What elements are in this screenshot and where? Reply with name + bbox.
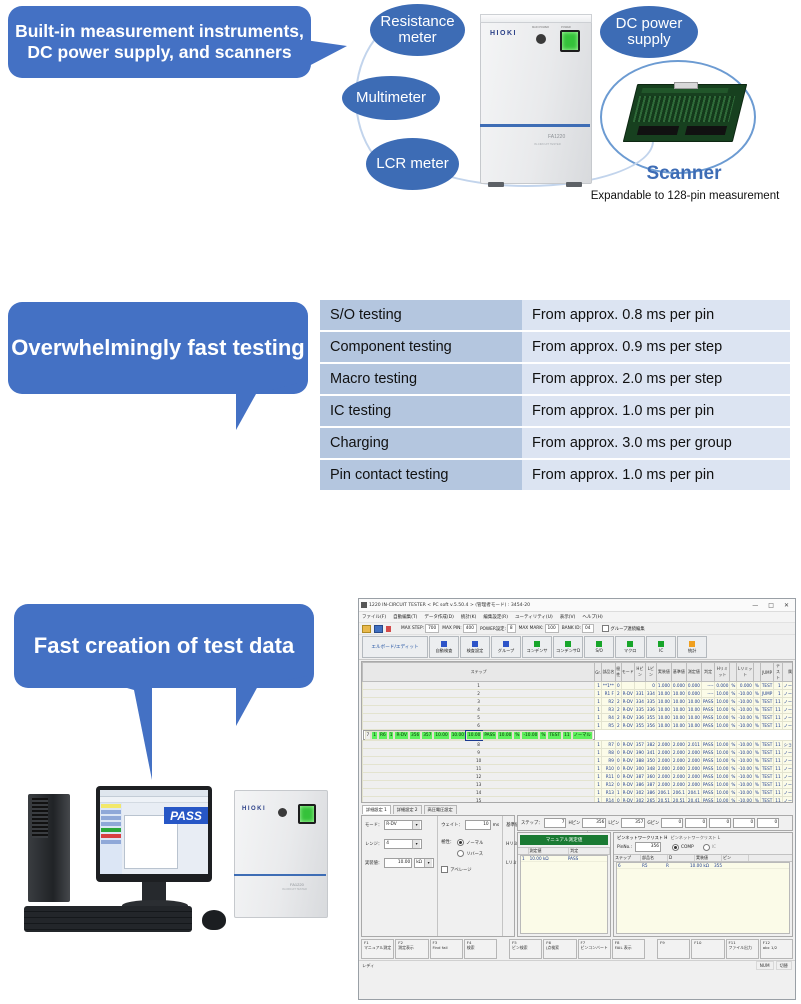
grid-cell[interactable]: 0 — [645, 682, 656, 690]
grid-row[interactable]: 81R70R-DV3573822.0002.0002.011PASS10.00%… — [363, 741, 794, 749]
grid-cell[interactable]: 10.00 — [715, 765, 730, 773]
grid-cell[interactable]: -10.00 — [737, 706, 754, 714]
grid-cell[interactable]: % — [753, 749, 760, 757]
grid-cell[interactable]: 1 — [774, 690, 782, 698]
close-button[interactable]: ✕ — [784, 602, 789, 609]
menu-item[interactable]: データ作成(D) — [424, 614, 453, 620]
grid-cell[interactable]: 10.00 — [715, 781, 730, 789]
grid-cell[interactable]: PASS — [701, 722, 714, 730]
toolbar-button[interactable]: マクロ — [615, 636, 645, 658]
grid-cell[interactable]: % — [753, 765, 760, 773]
grid-cell[interactable]: 2.000 — [671, 757, 686, 765]
grid-cell[interactable]: 10 — [363, 757, 595, 765]
grid-cell[interactable]: % — [730, 765, 737, 773]
grid-cell[interactable]: % — [730, 682, 737, 690]
grid-cell[interactable]: 341 — [645, 749, 656, 757]
grid-row[interactable]: 11**1**001.0000.0000.000----0.000%0.000%… — [363, 682, 794, 690]
grid-cell[interactable]: 1 — [595, 749, 602, 757]
grid-cell[interactable]: 348 — [645, 765, 656, 773]
grid-cell[interactable]: 1 — [774, 682, 782, 690]
function-key-bar[interactable]: F1マニュアル測定F2測定表示F3Find failF4検索F5ピン検索F6J点… — [359, 938, 795, 960]
grid-cell[interactable]: 1 — [595, 698, 602, 706]
grid-cell[interactable]: 11 — [774, 789, 782, 797]
function-key[interactable]: F9 — [657, 939, 690, 959]
grid-cell[interactable]: 10.00 — [656, 690, 671, 698]
grid-cell[interactable]: 0.000 — [686, 682, 701, 690]
grid-cell[interactable]: R-DV — [621, 781, 634, 789]
detail-tab[interactable]: 高圧電圧設定 — [424, 805, 457, 814]
grid-cell[interactable]: 10.00 — [466, 731, 482, 740]
grid-column-header[interactable]: 部品名 — [601, 663, 615, 682]
grid-cell[interactable]: TEST — [760, 682, 773, 690]
grid-cell[interactable]: -10.00 — [737, 714, 754, 722]
grid-cell[interactable]: % — [753, 781, 760, 789]
detail-tabs[interactable]: 詳細設定 1詳細設定 2高圧電圧設定 — [359, 804, 795, 814]
grid-cell[interactable]: 10.00 — [715, 690, 730, 698]
hpin-value[interactable]: 356 — [582, 818, 606, 828]
grid-cell[interactable]: 6 — [363, 722, 595, 730]
menu-item[interactable]: ヘルプ(H) — [582, 614, 602, 620]
toolbar-field-value[interactable]: 700 — [425, 624, 439, 633]
grid-cell[interactable]: 10.00 — [715, 749, 730, 757]
toolbar-field-value[interactable]: 8 — [507, 624, 516, 633]
grid-cell[interactable]: 336 — [634, 714, 645, 722]
grid-cell[interactable]: PASS — [701, 706, 714, 714]
grid-cell[interactable]: TEST — [760, 722, 773, 730]
grid-cell[interactable]: R8 — [601, 749, 615, 757]
grid-cell[interactable]: PASS — [701, 773, 714, 781]
grid-row[interactable]: 101R90R-DV3883502.0002.0002.000PASS10.00… — [363, 757, 794, 765]
grid-column-header[interactable]: Hリミット — [715, 663, 730, 682]
grid-cell[interactable]: -10.00 — [737, 797, 754, 804]
function-key[interactable]: F2測定表示 — [395, 939, 428, 959]
grid-cell[interactable]: R10 — [601, 765, 615, 773]
grid-cell[interactable]: 386 — [645, 789, 656, 797]
grid-cell[interactable]: 2.000 — [656, 757, 671, 765]
grid-row[interactable]: 21R1 F2R-DV33133410.0010.000.000----10.0… — [363, 690, 794, 698]
radio-ic[interactable]: IC — [703, 844, 716, 851]
grid-cell[interactable]: 356 — [409, 731, 421, 740]
grid-cell[interactable]: 1 — [595, 773, 602, 781]
grid-cell[interactable]: 2.000 — [656, 765, 671, 773]
grid-cell[interactable]: % — [730, 706, 737, 714]
toolbar-button[interactable]: 検査設定 — [460, 636, 490, 658]
grid-cell[interactable]: 7 — [365, 731, 372, 740]
grid-cell[interactable]: % — [730, 757, 737, 765]
grid-cell[interactable]: PASS — [701, 714, 714, 722]
grid-column-header[interactable]: Lピン — [645, 663, 656, 682]
grid-cell[interactable]: 1 — [595, 706, 602, 714]
function-key[interactable]: F5ピン検索 — [509, 939, 542, 959]
grid-cell[interactable]: % — [753, 690, 760, 698]
grid-cell[interactable]: TEST — [760, 781, 773, 789]
grid-cell[interactable]: TEST — [547, 731, 562, 740]
grid-row[interactable]: 141R131R-DV302386206.1206.1204.1PASS10.0… — [363, 789, 794, 797]
grid-column-header[interactable]: Lリミット — [737, 663, 754, 682]
grid-cell[interactable]: 11 — [774, 773, 782, 781]
grid-cell[interactable]: 355 — [634, 722, 645, 730]
grid-column-header[interactable]: 判定 — [701, 663, 714, 682]
grid-cell[interactable]: -10.00 — [737, 757, 754, 765]
grid-row[interactable]: 31R22R-DV33433510.0010.0010.00PASS10.00%… — [363, 698, 794, 706]
grid-cell[interactable]: 10.00 — [715, 714, 730, 722]
grid-cell[interactable]: 2.000 — [671, 781, 686, 789]
grid-cell[interactable]: 4 — [363, 706, 595, 714]
grid-column-header[interactable]: Hピン — [634, 663, 645, 682]
grid-cell[interactable]: 382 — [645, 741, 656, 749]
radio-comp[interactable]: COMP — [672, 844, 694, 851]
grid-cell[interactable]: 2.000 — [686, 773, 701, 781]
grid-cell[interactable]: 0.000 — [737, 682, 754, 690]
grid-cell[interactable]: 334 — [634, 698, 645, 706]
grid-cell[interactable]: PASS — [701, 741, 714, 749]
grid-cell[interactable]: 2.011 — [686, 741, 701, 749]
grid-cell[interactable]: 2.000 — [686, 765, 701, 773]
grid-column-header[interactable] — [730, 663, 737, 682]
grid-cell[interactable]: 10.00 — [671, 722, 686, 730]
grid-cell[interactable]: ショート — [782, 741, 793, 749]
grid-cell[interactable]: % — [753, 682, 760, 690]
grid-cell[interactable]: 14 — [363, 789, 595, 797]
grid-cell[interactable]: 302 — [634, 789, 645, 797]
grid-cell[interactable]: % — [730, 690, 737, 698]
pin-network-tabs[interactable]: ピンネットワークリスト Hピンネットワークリスト L — [614, 833, 792, 842]
grid-cell[interactable]: ---- — [701, 682, 714, 690]
function-key[interactable]: F6J点検索 — [543, 939, 576, 959]
grid-cell[interactable]: R13 — [601, 789, 615, 797]
grid-column-header[interactable]: 実装値 — [656, 663, 671, 682]
grid-column-header[interactable]: Gr. — [595, 663, 602, 682]
grid-cell[interactable]: 331 — [634, 690, 645, 698]
menu-item[interactable]: ファイル(F) — [362, 614, 386, 620]
toolbar-field-value[interactable]: 100 — [545, 624, 559, 633]
grid-cell[interactable]: 11 — [774, 714, 782, 722]
grid-cell[interactable]: JUMP — [760, 690, 773, 698]
grid-cell[interactable]: 10.00 — [686, 698, 701, 706]
grid-cell[interactable]: -10.00 — [737, 722, 754, 730]
grid-cell[interactable]: 265 — [645, 797, 656, 804]
grid-cell[interactable]: TEST — [760, 765, 773, 773]
toolbar-button[interactable]: コンデンサ — [522, 636, 552, 658]
function-key[interactable]: F4検索 — [464, 939, 497, 959]
grid-cell[interactable]: TEST — [760, 714, 773, 722]
grid-cell[interactable]: 206.1 — [671, 789, 686, 797]
grid-column-header[interactable] — [753, 663, 760, 682]
grid-cell[interactable]: PASS — [701, 698, 714, 706]
grid-cell[interactable]: ノーマル — [782, 714, 793, 722]
grid-cell[interactable]: 11 — [774, 757, 782, 765]
grid-cell[interactable]: 388 — [634, 757, 645, 765]
grid-cell[interactable]: % — [753, 789, 760, 797]
grid-cell[interactable]: 387 — [634, 773, 645, 781]
grid-cell[interactable]: 20.51 — [656, 797, 671, 804]
grid-cell[interactable]: 1 — [595, 781, 602, 789]
grid-cell[interactable]: % — [730, 714, 737, 722]
maximize-button[interactable]: □ — [768, 602, 774, 609]
grid-cell[interactable]: 8 — [363, 741, 595, 749]
toolbar-button[interactable]: 自動検査 — [429, 636, 459, 658]
grid-cell[interactable]: 10.00 — [715, 757, 730, 765]
grid-cell[interactable]: 10.00 — [656, 714, 671, 722]
grid-cell[interactable]: R6 — [378, 731, 388, 740]
grid-cell[interactable]: 1 — [595, 714, 602, 722]
grid-cell[interactable]: 355 — [645, 714, 656, 722]
grid-cell[interactable]: -10.00 — [737, 690, 754, 698]
grid-cell[interactable]: 335 — [634, 706, 645, 714]
polarity-radio[interactable]: ノーマル — [457, 839, 483, 846]
grid-cell[interactable]: % — [730, 797, 737, 804]
grid-cell[interactable]: -10.00 — [737, 789, 754, 797]
toolbar-field-value[interactable]: 04 — [582, 624, 593, 633]
grid-cell[interactable]: 1 — [595, 789, 602, 797]
grid-cell[interactable]: 350 — [645, 757, 656, 765]
grid-cell[interactable]: 20.41 — [686, 797, 701, 804]
grid-cell[interactable]: 300 — [634, 765, 645, 773]
grid-cell[interactable]: 10.00 — [450, 731, 466, 740]
grid-cell[interactable]: ノーマル — [782, 722, 793, 730]
menu-item[interactable]: 編集設定(R) — [483, 614, 508, 620]
grid-cell[interactable]: 360 — [645, 773, 656, 781]
grid-row[interactable]: 131R120R-DV3863872.0002.0002.000PASS10.0… — [363, 781, 794, 789]
grid-cell[interactable]: 2.000 — [656, 741, 671, 749]
grid-cell[interactable]: % — [730, 789, 737, 797]
grid-cell[interactable]: 1 — [595, 741, 602, 749]
grid-cell[interactable]: 10.00 — [671, 690, 686, 698]
grid-cell[interactable]: TEST — [760, 789, 773, 797]
grid-cell[interactable]: ノーマル — [782, 749, 793, 757]
grid-cell[interactable]: R-DV — [621, 749, 634, 757]
grid-cell[interactable]: TEST — [760, 773, 773, 781]
grid-column-header[interactable]: 測定値 — [686, 663, 701, 682]
grid-cell[interactable]: PASS — [701, 757, 714, 765]
function-key[interactable]: F7ピンコンバート — [578, 939, 611, 959]
form-select[interactable]: 4▾ — [384, 839, 422, 849]
grid-cell[interactable]: ノーマル — [782, 757, 793, 765]
grid-cell[interactable]: 10.00 — [715, 797, 730, 804]
list-item[interactable]: 6R5R10.00 kΩ355 — [617, 863, 789, 869]
grid-cell[interactable]: 11 — [774, 797, 782, 804]
grid-cell[interactable]: 390 — [634, 749, 645, 757]
grid-cell[interactable]: 11 — [774, 749, 782, 757]
grid-cell[interactable]: 2.000 — [671, 749, 686, 757]
grid-cell[interactable]: R3 — [601, 706, 615, 714]
grid-column-header[interactable]: JUMP — [760, 663, 773, 682]
grid-cell[interactable]: 10.00 — [715, 722, 730, 730]
grid-cell[interactable]: % — [753, 773, 760, 781]
grid-cell[interactable]: R14 — [601, 797, 615, 804]
grid-cell[interactable]: -10.00 — [737, 698, 754, 706]
grid-cell[interactable]: 2.000 — [656, 749, 671, 757]
manual-list-body[interactable]: 110.00 kΩPASS — [520, 855, 608, 934]
grid-cell[interactable]: 20.51 — [671, 797, 686, 804]
grid-cell[interactable]: 11 — [774, 706, 782, 714]
grid-cell[interactable]: 12 — [363, 773, 595, 781]
grid-cell[interactable]: % — [730, 773, 737, 781]
grid-cell[interactable]: 1 — [595, 765, 602, 773]
grid-cell[interactable]: ノーマル — [572, 731, 593, 740]
grid-cell[interactable]: TEST — [760, 797, 773, 804]
grid-cell[interactable]: ノーマル — [782, 706, 793, 714]
grid-cell[interactable]: 2.000 — [671, 741, 686, 749]
grid-cell[interactable]: ノーマル — [782, 773, 793, 781]
help-icon[interactable] — [386, 626, 391, 632]
grid-cell[interactable]: 3 — [363, 698, 595, 706]
grid-cell[interactable]: % — [730, 741, 737, 749]
grid-cell[interactable]: ノーマル — [782, 682, 793, 690]
form-input[interactable]: 10.00 — [384, 858, 412, 868]
grid-cell[interactable]: TEST — [760, 706, 773, 714]
grid-cell[interactable]: 387 — [645, 781, 656, 789]
gpin-value[interactable]: 0 — [757, 818, 779, 828]
grid-cell[interactable]: R-DV — [621, 765, 634, 773]
grid-cell[interactable]: % — [753, 757, 760, 765]
grid-cell[interactable]: R-DV — [621, 741, 634, 749]
grid-cell[interactable]: 2.000 — [686, 757, 701, 765]
grid-column-header[interactable]: 基準値 — [671, 663, 686, 682]
grid-cell[interactable]: 204.1 — [686, 789, 701, 797]
grid-cell[interactable]: R2 — [601, 698, 615, 706]
grid-cell[interactable]: 334 — [645, 690, 656, 698]
grid-cell[interactable]: 15 — [363, 797, 595, 804]
grid-cell[interactable]: % — [753, 797, 760, 804]
grid-cell[interactable]: ノーマル — [782, 765, 793, 773]
grid-cell[interactable]: R-DV — [621, 757, 634, 765]
grid-cell[interactable]: 0.000 — [671, 682, 686, 690]
function-key[interactable]: F10 — [691, 939, 724, 959]
toolbar-button[interactable]: 統計 — [677, 636, 707, 658]
grid-cell[interactable]: 1 — [595, 722, 602, 730]
gpin-value[interactable]: 0 — [733, 818, 755, 828]
net-list-body[interactable]: 6R5R10.00 kΩ355 — [616, 862, 790, 934]
grid-row[interactable]: 51R42R-DV33635510.0010.0010.00PASS10.00%… — [363, 714, 794, 722]
grid-cell[interactable]: 13 — [363, 781, 595, 789]
grid-cell[interactable]: PASS — [701, 765, 714, 773]
toolbar-button[interactable]: コンデンサD — [553, 636, 583, 658]
grid-cell[interactable]: R1 F — [601, 690, 615, 698]
grid-cell[interactable]: R-DV — [621, 722, 634, 730]
grid-cell[interactable]: ノーマル — [782, 797, 793, 804]
step-value[interactable]: 7 — [544, 818, 566, 828]
grid-cell[interactable]: PASS — [701, 789, 714, 797]
grid-cell[interactable]: PASS — [701, 797, 714, 804]
grid-row[interactable]: 71R61R-DV35635710.0010.0010.00PASS10.00%… — [363, 730, 595, 740]
grid-cell[interactable]: R-DV — [621, 789, 634, 797]
minimize-button[interactable]: — — [752, 602, 758, 609]
grid-cell[interactable]: 0.000 — [686, 690, 701, 698]
grid-cell[interactable]: ノーマル — [782, 698, 793, 706]
grid-cell[interactable]: 10.00 — [671, 714, 686, 722]
form-spinner[interactable]: 10 — [465, 820, 491, 830]
grid-cell[interactable]: 10.00 — [671, 706, 686, 714]
grid-cell[interactable]: 1 — [595, 797, 602, 804]
grid-cell[interactable]: PASS — [482, 731, 497, 740]
grid-cell[interactable]: 10.00 — [686, 722, 701, 730]
grid-cell[interactable]: R5 — [601, 722, 615, 730]
grid-cell[interactable]: 1 — [371, 731, 378, 740]
grid-cell[interactable]: 5 — [363, 714, 595, 722]
toolbar-button[interactable]: IC — [646, 636, 676, 658]
grid-cell[interactable]: 11 — [774, 765, 782, 773]
grid-cell[interactable] — [621, 682, 634, 690]
function-key[interactable]: F11ファイル出力 — [726, 939, 759, 959]
pin-number-value[interactable]: 356 — [635, 842, 661, 852]
data-grid-body[interactable]: 11**1**001.0000.0000.000----0.000%0.000%… — [363, 682, 794, 804]
grid-cell[interactable]: 356 — [645, 722, 656, 730]
grid-row[interactable]: 111R100R-DV3003482.0002.0002.000PASS10.0… — [363, 765, 794, 773]
detail-tab[interactable]: 詳細設定 1 — [362, 805, 391, 814]
grid-cell[interactable]: 10.00 — [686, 714, 701, 722]
grid-cell[interactable]: -10.00 — [737, 765, 754, 773]
grid-cell[interactable]: 1.000 — [656, 682, 671, 690]
menu-item[interactable]: ユーティリティ(U) — [515, 614, 553, 620]
net-tab[interactable]: ピンネットワークリスト L — [670, 835, 720, 841]
toolbar-button[interactable]: S/O — [584, 636, 614, 658]
grid-cell[interactable]: 10.00 — [497, 731, 513, 740]
grid-cell[interactable]: 10.00 — [656, 706, 671, 714]
checkbox-average[interactable]: アベレージ — [441, 866, 499, 873]
grid-cell[interactable]: R-DV — [621, 773, 634, 781]
grid-cell[interactable]: 10.00 — [656, 722, 671, 730]
group-edit-checkbox[interactable]: グループ連続編集 — [602, 625, 645, 632]
grid-cell[interactable]: 10.00 — [671, 698, 686, 706]
grid-cell[interactable]: ノーマル — [782, 781, 793, 789]
grid-cell[interactable]: R7 — [601, 741, 615, 749]
grid-column-header[interactable]: モード — [621, 663, 634, 682]
grid-cell[interactable]: 2.000 — [656, 773, 671, 781]
grid-column-header[interactable]: 属性 — [782, 663, 793, 682]
grid-cell[interactable]: 10.00 — [433, 731, 449, 740]
menu-item[interactable]: 自動編集(T) — [393, 614, 417, 620]
grid-cell[interactable]: 10.00 — [656, 698, 671, 706]
grid-cell[interactable]: -10.00 — [737, 773, 754, 781]
grid-cell[interactable]: -10.00 — [737, 749, 754, 757]
grid-cell[interactable]: 2.000 — [686, 749, 701, 757]
grid-cell[interactable]: R-DV — [621, 797, 634, 804]
grid-cell[interactable]: 335 — [645, 698, 656, 706]
grid-cell[interactable]: TEST — [760, 749, 773, 757]
grid-cell[interactable]: % — [753, 706, 760, 714]
grid-cell[interactable]: TEST — [760, 757, 773, 765]
grid-row[interactable]: 41R32R-DV33533610.0010.0010.00PASS10.00%… — [363, 706, 794, 714]
grid-cell[interactable]: 11 — [363, 765, 595, 773]
grid-cell[interactable]: 1 — [388, 731, 395, 740]
grid-cell[interactable]: 10.00 — [715, 773, 730, 781]
list-item[interactable]: 110.00 kΩPASS — [521, 856, 607, 862]
grid-cell[interactable]: 10.00 — [715, 706, 730, 714]
grid-cell[interactable]: R12 — [601, 781, 615, 789]
grid-cell[interactable]: % — [753, 722, 760, 730]
grid-cell[interactable]: % — [730, 781, 737, 789]
grid-cell[interactable]: **1** — [601, 682, 615, 690]
gpin-value[interactable]: 0 — [709, 818, 731, 828]
function-key[interactable]: F1マニュアル測定 — [361, 939, 394, 959]
grid-row[interactable]: 121R110R-DV3873602.0002.0002.000PASS10.0… — [363, 773, 794, 781]
toolbar-button[interactable]: グループ — [491, 636, 521, 658]
grid-cell[interactable]: R-DV — [394, 731, 409, 740]
grid-cell[interactable]: 11 — [562, 731, 571, 740]
grid-cell[interactable]: -10.00 — [521, 731, 539, 740]
grid-cell[interactable]: 10.00 — [715, 789, 730, 797]
grid-cell[interactable]: 357 — [421, 731, 433, 740]
grid-cell[interactable]: 11 — [774, 741, 782, 749]
grid-row[interactable]: 61R52R-DV35535610.0010.0010.00PASS10.00%… — [363, 722, 794, 730]
grid-cell[interactable]: 11 — [774, 722, 782, 730]
gpin-value[interactable]: 0 — [685, 818, 707, 828]
grid-cell[interactable]: PASS — [701, 781, 714, 789]
grid-cell[interactable]: 10.00 — [715, 698, 730, 706]
net-tab[interactable]: ピンネットワークリスト H — [617, 835, 667, 841]
grid-cell[interactable]: % — [539, 731, 547, 740]
